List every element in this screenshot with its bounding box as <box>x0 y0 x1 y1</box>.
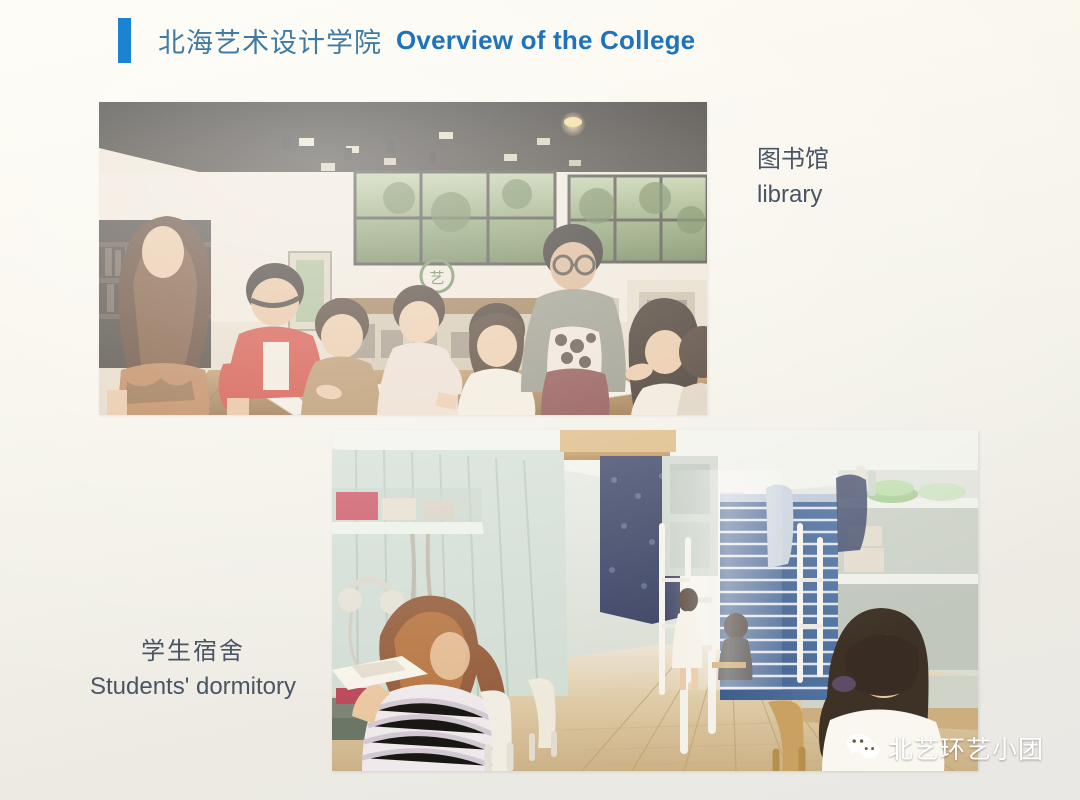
slide-canvas: 北海艺术设计学院 Overview of the College <box>0 0 1080 800</box>
caption-library-chinese: 图书馆 <box>757 143 829 177</box>
caption-dormitory-english: Students' dormitory <box>78 669 308 705</box>
caption-library: 图书馆 library <box>757 143 829 213</box>
dormitory-photo <box>332 430 978 771</box>
caption-library-english: library <box>757 177 829 213</box>
title-english: Overview of the College <box>396 25 695 56</box>
caption-dormitory: 学生宿舍 Students' dormitory <box>78 635 308 705</box>
title-chinese: 北海艺术设计学院 <box>158 21 382 60</box>
title-accent-bar <box>118 18 131 63</box>
library-photo-illustration: 艺 <box>99 102 707 415</box>
library-photo: 艺 <box>99 102 707 415</box>
slide-title: 北海艺术设计学院 Overview of the College <box>118 18 695 63</box>
caption-dormitory-chinese: 学生宿舍 <box>78 635 308 669</box>
dormitory-photo-illustration <box>332 430 978 771</box>
